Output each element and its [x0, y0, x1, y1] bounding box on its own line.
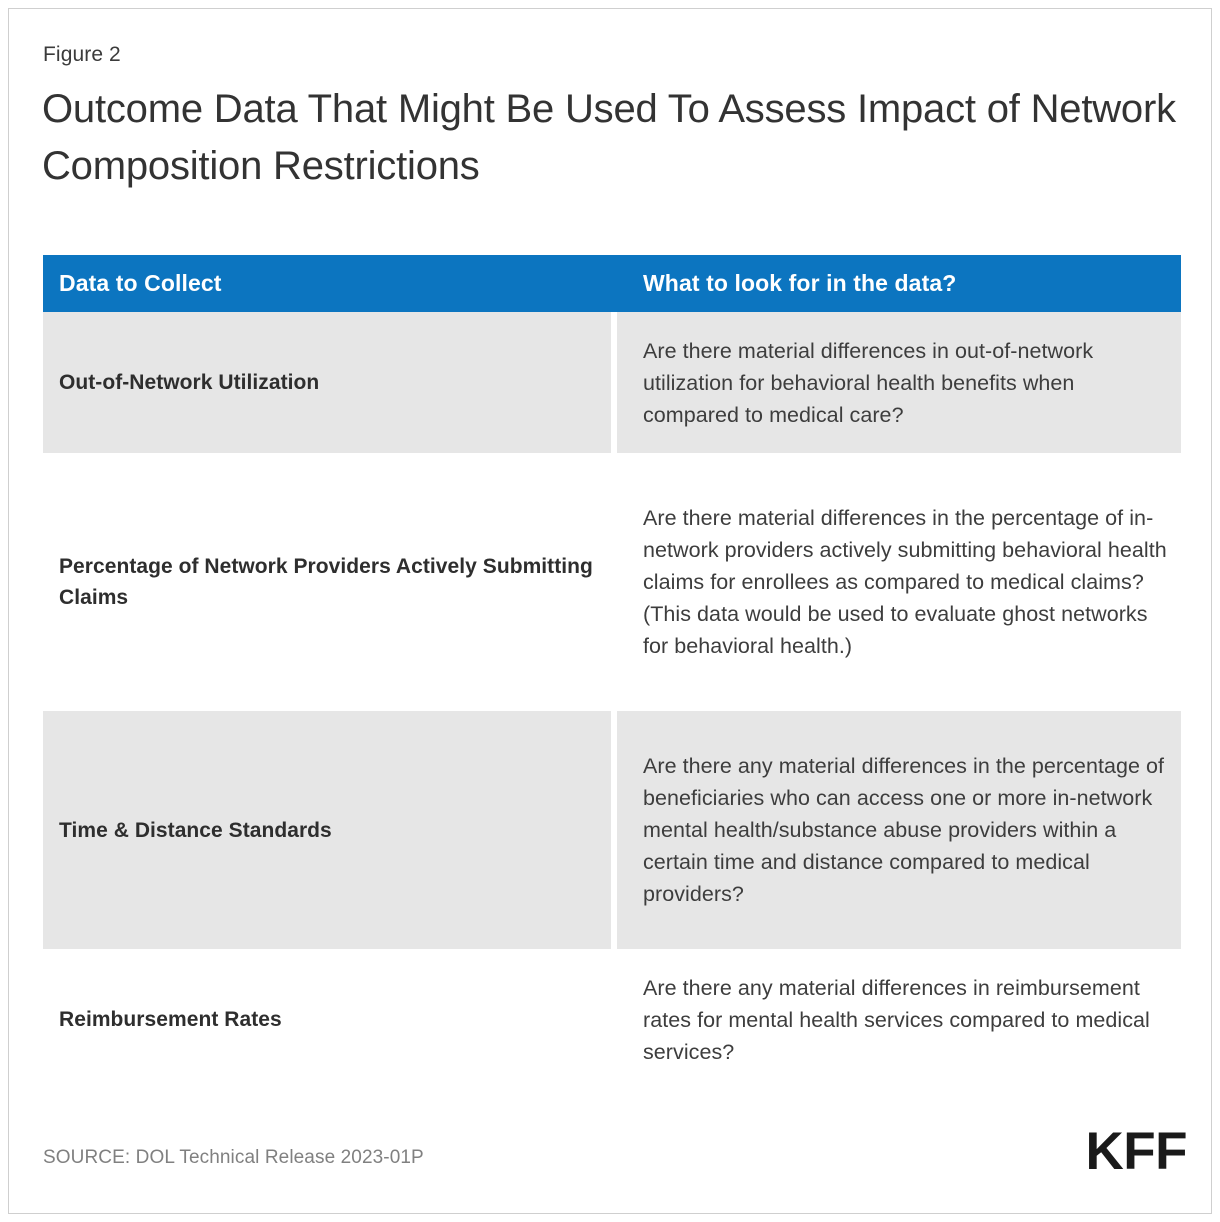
row-description: Are there any material differences in th…	[643, 750, 1167, 910]
table-cell-data-to-collect: Reimbursement Rates	[43, 949, 611, 1090]
kff-logo: KFF	[1085, 1125, 1187, 1178]
table-cell-data-to-collect: Out-of-Network Utilization	[43, 312, 611, 453]
row-description: Are there material differences in out-of…	[643, 335, 1167, 431]
table-header-row: Data to Collect What to look for in the …	[43, 255, 1181, 312]
page-title: Outcome Data That Might Be Used To Asses…	[42, 81, 1182, 195]
figure-container: Figure 2 Outcome Data That Might Be Used…	[8, 8, 1212, 1214]
table-row: Percentage of Network Providers Actively…	[43, 453, 1181, 711]
table-cell-what-to-look-for: Are there any material differences in th…	[617, 711, 1181, 949]
table-cell-what-to-look-for: Are there material differences in out-of…	[617, 312, 1181, 453]
row-description: Are there any material differences in re…	[643, 972, 1167, 1068]
outcome-data-table: Data to Collect What to look for in the …	[43, 255, 1181, 1090]
table-row: Time & Distance Standards Are there any …	[43, 711, 1181, 949]
figure-number-label: Figure 2	[43, 43, 121, 67]
row-label: Time & Distance Standards	[59, 815, 332, 846]
source-note: SOURCE: DOL Technical Release 2023-01P	[43, 1147, 424, 1169]
table-header-cell-data-to-collect: Data to Collect	[43, 255, 611, 312]
row-label: Percentage of Network Providers Actively…	[59, 551, 593, 613]
table-row: Out-of-Network Utilization Are there mat…	[43, 312, 1181, 453]
row-label: Reimbursement Rates	[59, 1004, 282, 1035]
table-cell-data-to-collect: Percentage of Network Providers Actively…	[43, 453, 611, 711]
row-label: Out-of-Network Utilization	[59, 367, 319, 398]
row-description: Are there material differences in the pe…	[643, 502, 1167, 662]
table-cell-what-to-look-for: Are there material differences in the pe…	[617, 453, 1181, 711]
column-header-label: Data to Collect	[59, 270, 222, 297]
table-header-cell-what-to-look-for: What to look for in the data?	[617, 255, 1181, 312]
table-cell-data-to-collect: Time & Distance Standards	[43, 711, 611, 949]
column-header-label: What to look for in the data?	[643, 270, 956, 297]
table-row: Reimbursement Rates Are there any materi…	[43, 949, 1181, 1090]
table-cell-what-to-look-for: Are there any material differences in re…	[617, 949, 1181, 1090]
